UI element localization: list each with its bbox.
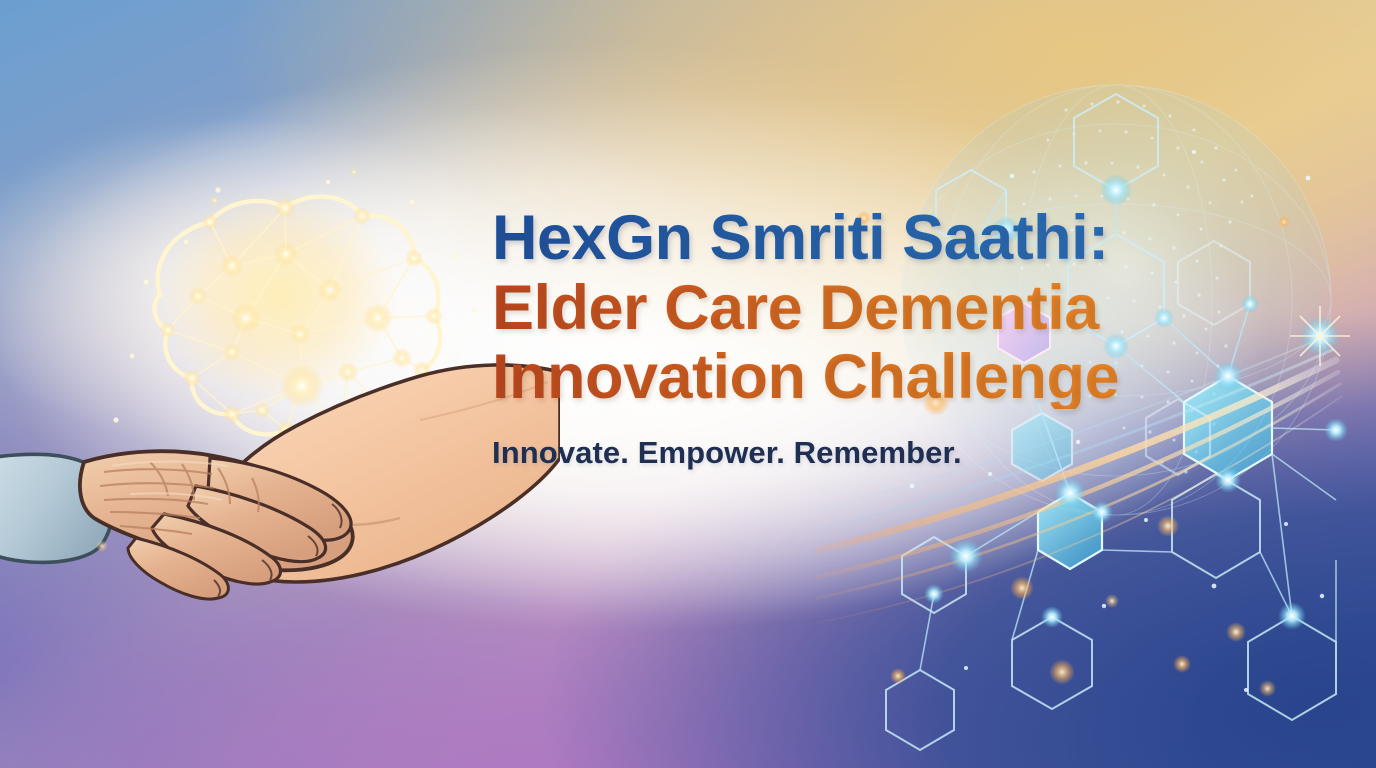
headline-block: HexGn Smriti Saathi: Elder Care Dementia… [492,208,1222,471]
title-line-3: Innovation Challenge [492,347,1222,409]
hero-banner: HexGn Smriti Saathi: Elder Care Dementia… [0,0,1376,768]
title-line-1: HexGn Smriti Saathi: [492,208,1222,270]
tagline: Innovate. Empower. Remember. [492,435,1222,471]
title-line-2: Elder Care Dementia [492,278,1222,340]
